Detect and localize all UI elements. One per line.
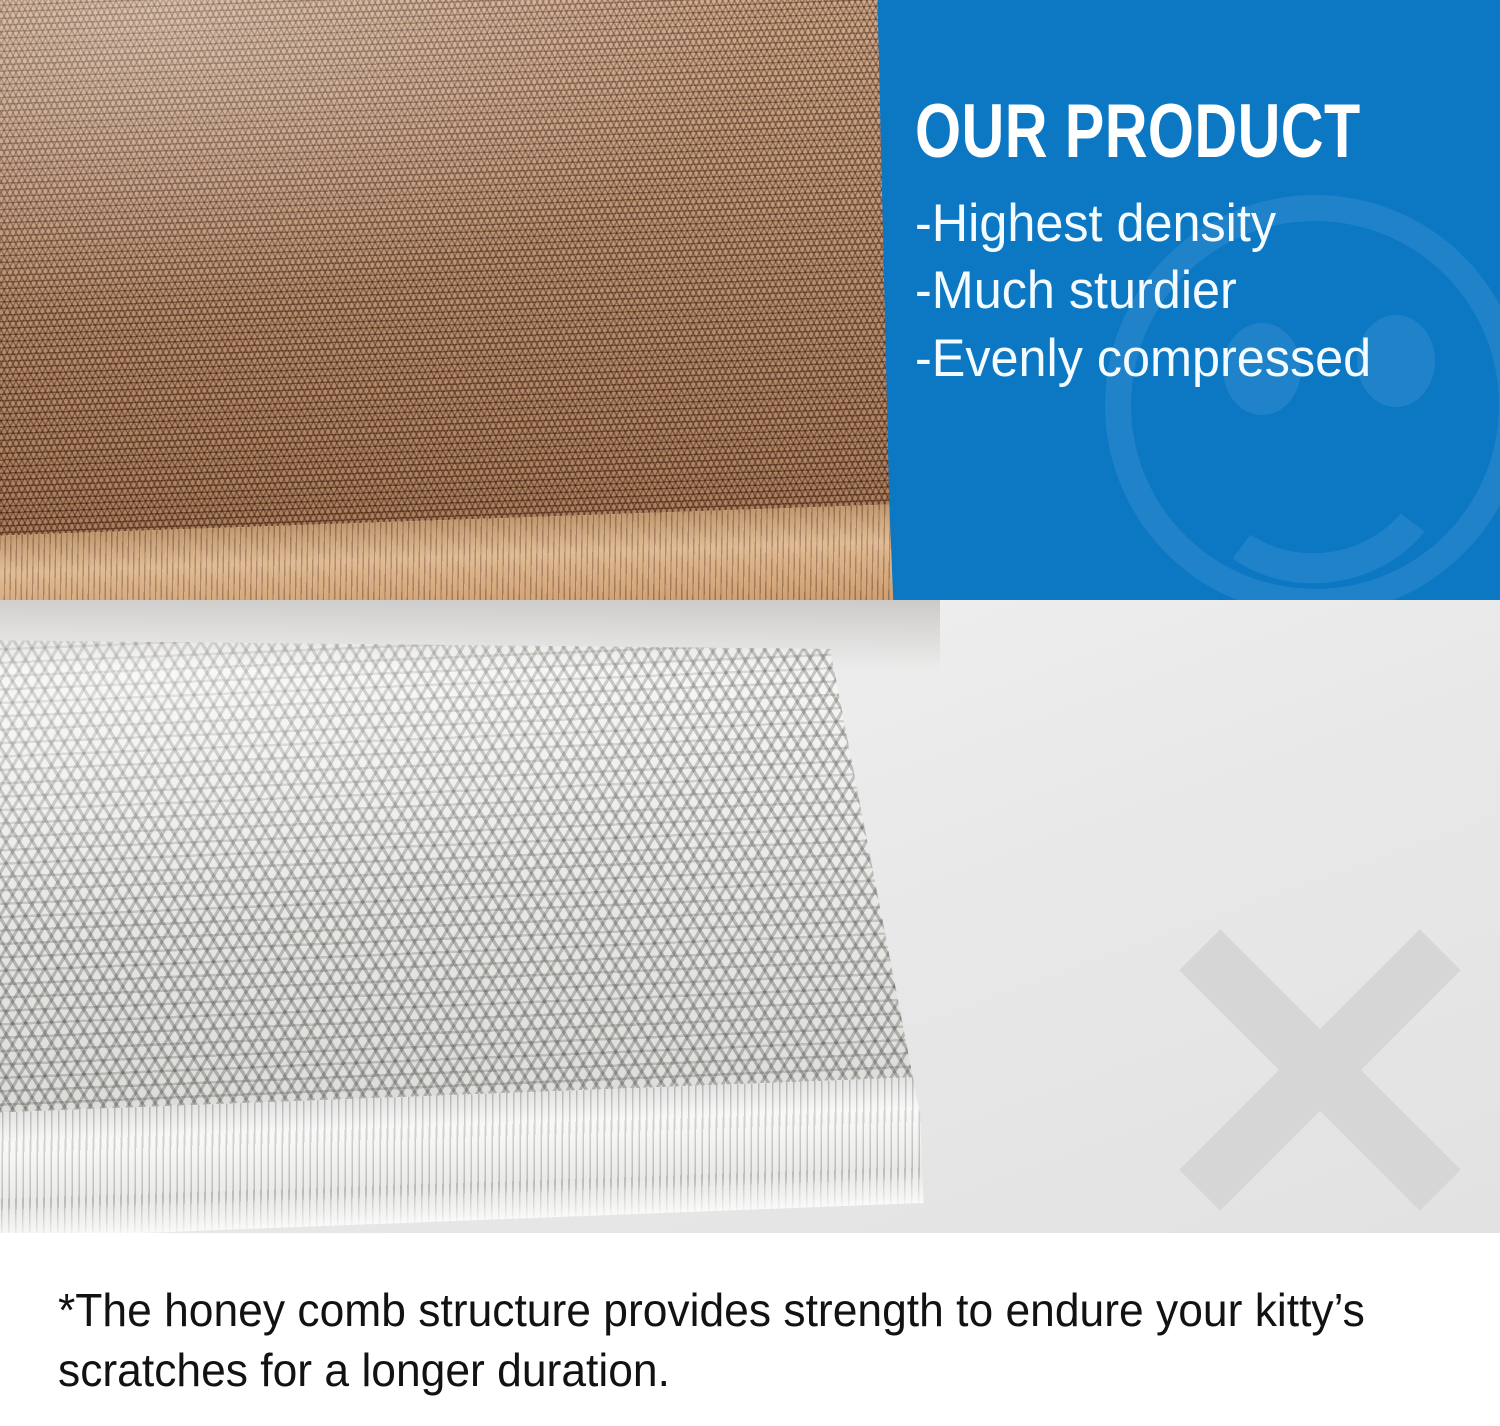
honeycomb-top-surface-texture xyxy=(0,0,920,561)
our-product-cardboard-pad-image xyxy=(0,0,920,600)
our-product-bullet-2: -Much sturdier xyxy=(915,257,1457,324)
others-honeycomb-pad-image xyxy=(0,640,960,1240)
product-comparison-infographic: OUR PRODUCT -Highest density -Much sturd… xyxy=(0,0,1500,1426)
our-product-bullet-3: -Evenly compressed xyxy=(915,325,1457,392)
x-stroke-b-icon xyxy=(1179,929,1460,1210)
x-mark-watermark-icon xyxy=(1150,900,1490,1233)
x-stroke-a-icon xyxy=(1179,929,1460,1210)
our-product-heading: OUR PRODUCT xyxy=(915,96,1360,168)
our-product-bullet-list: -Highest density -Much sturdier -Evenly … xyxy=(915,190,1485,392)
footnote-text: *The honey comb structure provides stren… xyxy=(58,1281,1409,1401)
white-honeycomb-top-surface-texture xyxy=(0,640,960,1134)
our-product-bullet-1: -Highest density xyxy=(915,190,1457,257)
our-product-panel: OUR PRODUCT -Highest density -Much sturd… xyxy=(0,0,1500,600)
our-product-copy-block: OUR PRODUCT -Highest density -Much sturd… xyxy=(915,96,1485,392)
